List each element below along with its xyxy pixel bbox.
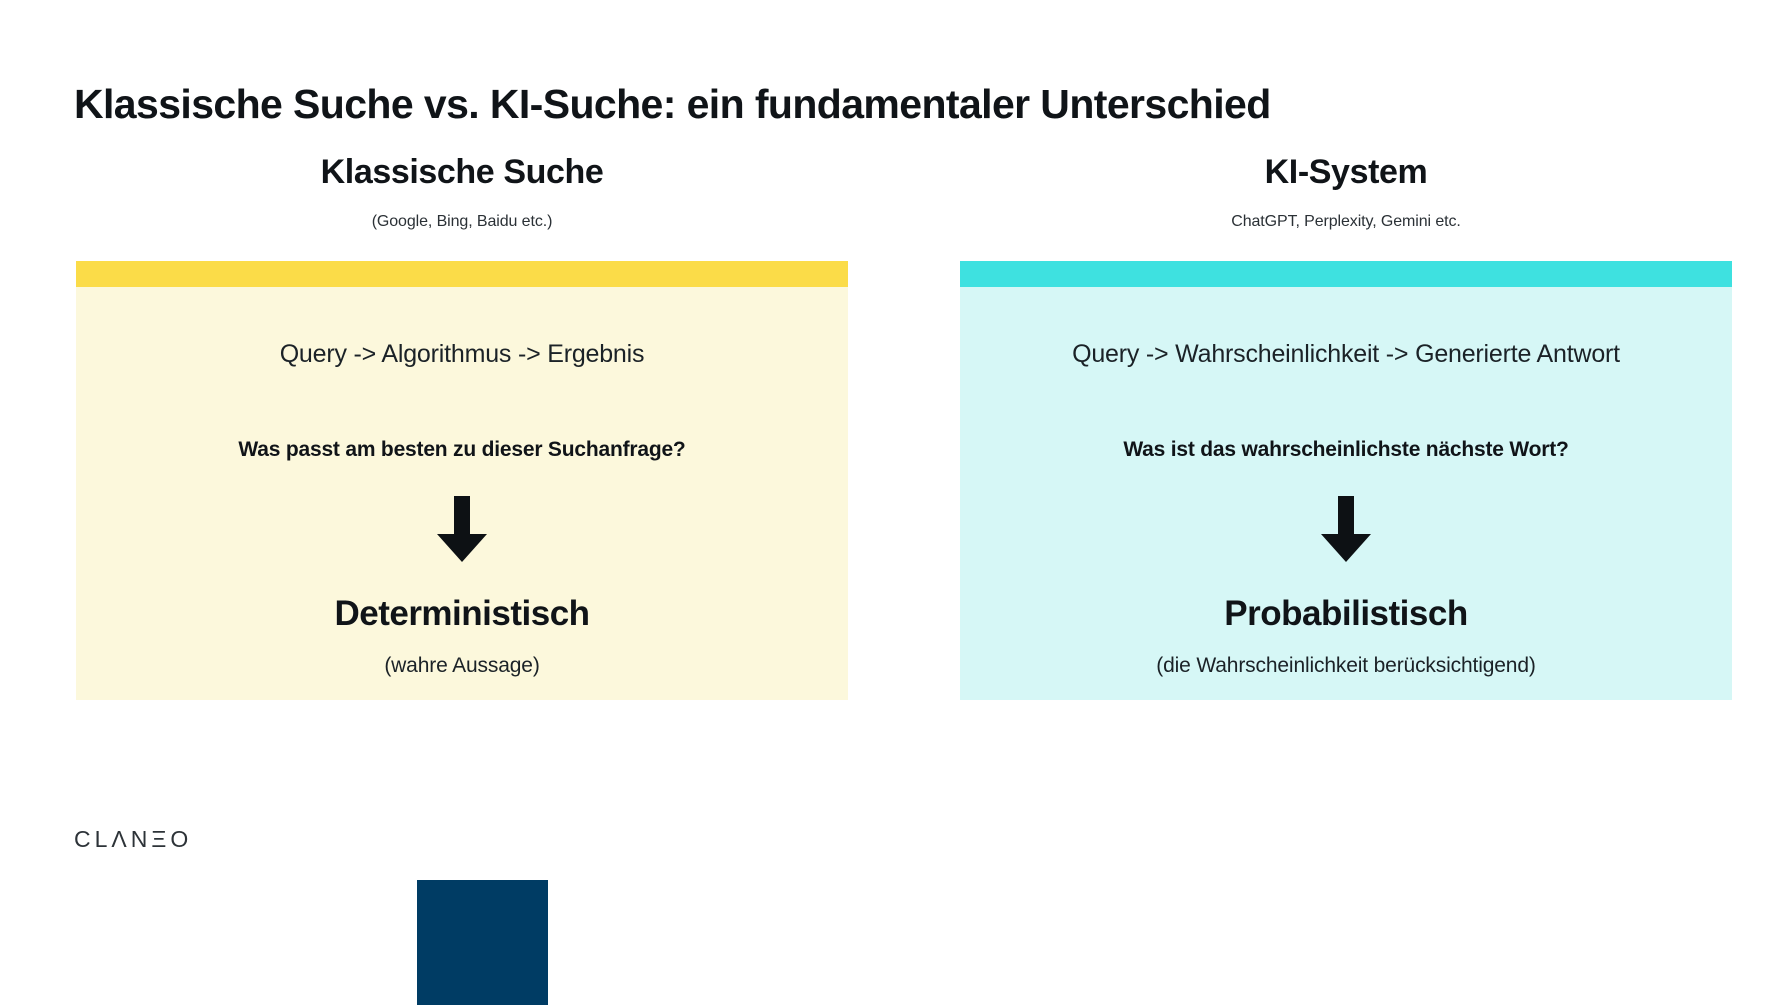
column-ki-system: KI-System ChatGPT, Perplexity, Gemini et… — [960, 150, 1732, 700]
card-accent-bar-right — [960, 261, 1732, 287]
question-text-right: Was ist das wahrscheinlichste nächste Wo… — [960, 438, 1732, 462]
flow-text-right: Query -> Wahrscheinlichkeit -> Generiert… — [960, 339, 1732, 369]
column-klassische-suche: Klassische Suche (Google, Bing, Baidu et… — [76, 150, 848, 700]
brand-square — [417, 880, 548, 1005]
arrow-down-icon — [76, 496, 848, 564]
claneo-logo: CLΛNΞO — [74, 826, 192, 853]
card-ki-system: Query -> Wahrscheinlichkeit -> Generiert… — [960, 261, 1732, 700]
result-text-right: Probabilistisch — [960, 594, 1732, 634]
question-text-left: Was passt am besten zu dieser Suchanfrag… — [76, 438, 848, 462]
result-note-left: (wahre Aussage) — [76, 654, 848, 678]
card-klassische-suche: Query -> Algorithmus -> Ergebnis Was pas… — [76, 261, 848, 700]
page-title: Klassische Suche vs. KI-Suche: ein funda… — [74, 81, 1271, 128]
card-accent-bar-left — [76, 261, 848, 287]
column-subtitle-right: ChatGPT, Perplexity, Gemini etc. — [960, 213, 1732, 231]
card-body-left: Query -> Algorithmus -> Ergebnis Was pas… — [76, 287, 848, 700]
arrow-down-icon — [960, 496, 1732, 564]
column-title-right: KI-System — [960, 150, 1732, 191]
column-subtitle-left: (Google, Bing, Baidu etc.) — [76, 213, 848, 231]
result-note-right: (die Wahrscheinlichkeit berücksichtigend… — [960, 654, 1732, 678]
column-title-left: Klassische Suche — [76, 150, 848, 191]
column-header-left: Klassische Suche (Google, Bing, Baidu et… — [76, 150, 848, 231]
result-text-left: Deterministisch — [76, 594, 848, 634]
card-body-right: Query -> Wahrscheinlichkeit -> Generiert… — [960, 287, 1732, 700]
column-header-right: KI-System ChatGPT, Perplexity, Gemini et… — [960, 150, 1732, 231]
flow-text-left: Query -> Algorithmus -> Ergebnis — [76, 339, 848, 369]
